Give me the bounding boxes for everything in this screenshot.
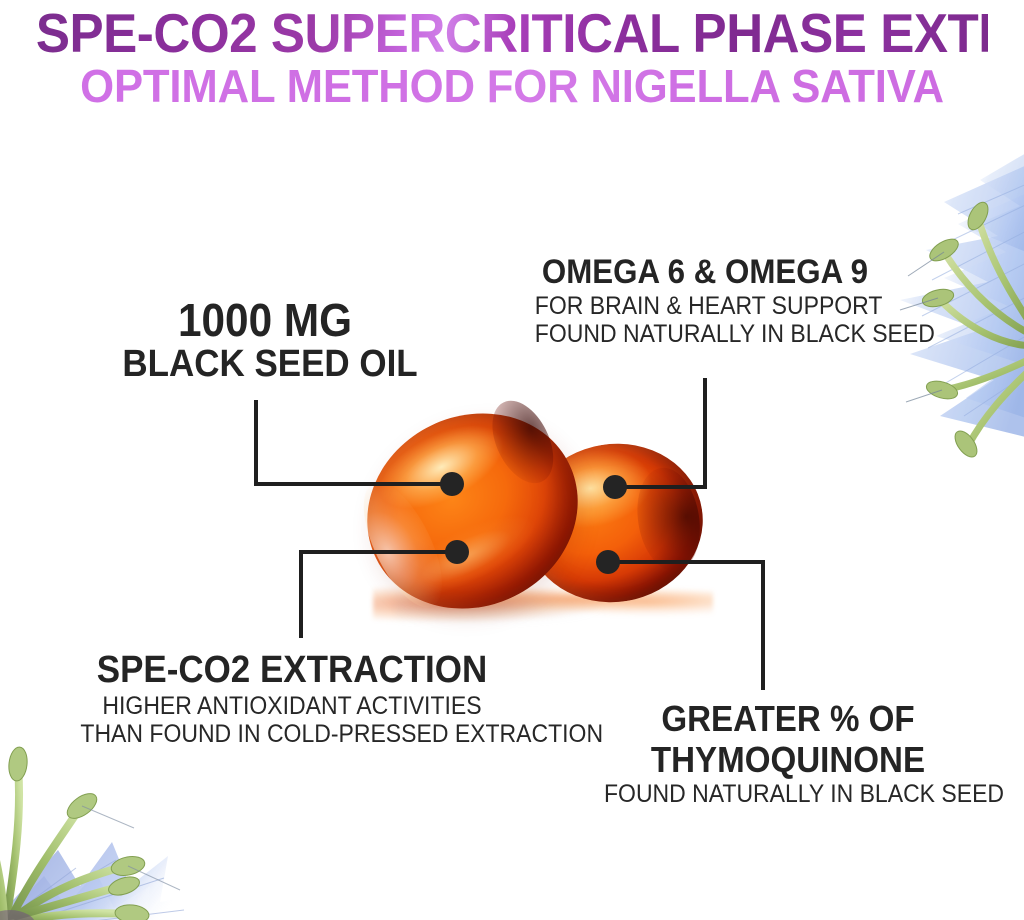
callout-tq-heading-2: THYMOQUINONE — [604, 739, 972, 780]
poster-header: SPE-CO2 SUPERCRITICAL PHASE EXTRACTION O… — [0, 0, 1024, 122]
callout-spe-subtext-1: HIGHER ANTIOXIDANT ACTIVITIES — [80, 692, 503, 720]
callout-dose: 1000 MG BLACK SEED OIL — [110, 296, 420, 384]
callout-omega: OMEGA 6 & OMEGA 9 FOR BRAIN & HEART SUPP… — [520, 252, 890, 348]
callout-spe-subtext-2: THAN FOUND IN COLD-PRESSED EXTRACTION — [80, 720, 503, 748]
callout-tq-heading-1: GREATER % OF — [604, 698, 972, 739]
callout-dose-heading-2: BLACK SEED OIL — [122, 344, 407, 384]
callout-dose-heading-1: 1000 MG — [122, 296, 407, 344]
page-title: SPE-CO2 SUPERCRITICAL PHASE EXTRACTION — [36, 4, 988, 62]
callout-thymoquinone: GREATER % OF THYMOQUINONE FOUND NATURALL… — [588, 698, 988, 808]
callout-omega-heading: OMEGA 6 & OMEGA 9 — [535, 252, 875, 292]
callout-omega-subtext-2: FOUND NATURALLY IN BLACK SEED — [535, 320, 875, 348]
callout-spe-extraction: SPE-CO2 EXTRACTION HIGHER ANTIOXIDANT AC… — [62, 648, 522, 748]
callout-tq-subtext-1: FOUND NATURALLY IN BLACK SEED — [604, 780, 972, 808]
infographic-poster: SPE-CO2 SUPERCRITICAL PHASE EXTRACTION O… — [0, 0, 1024, 920]
softgel-capsules-image — [355, 398, 725, 643]
callout-spe-heading: SPE-CO2 EXTRACTION — [80, 648, 503, 692]
page-subtitle: OPTIMAL METHOD FOR NIGELLA SATIVA — [26, 62, 999, 110]
callout-omega-subtext-1: FOR BRAIN & HEART SUPPORT — [535, 292, 875, 320]
